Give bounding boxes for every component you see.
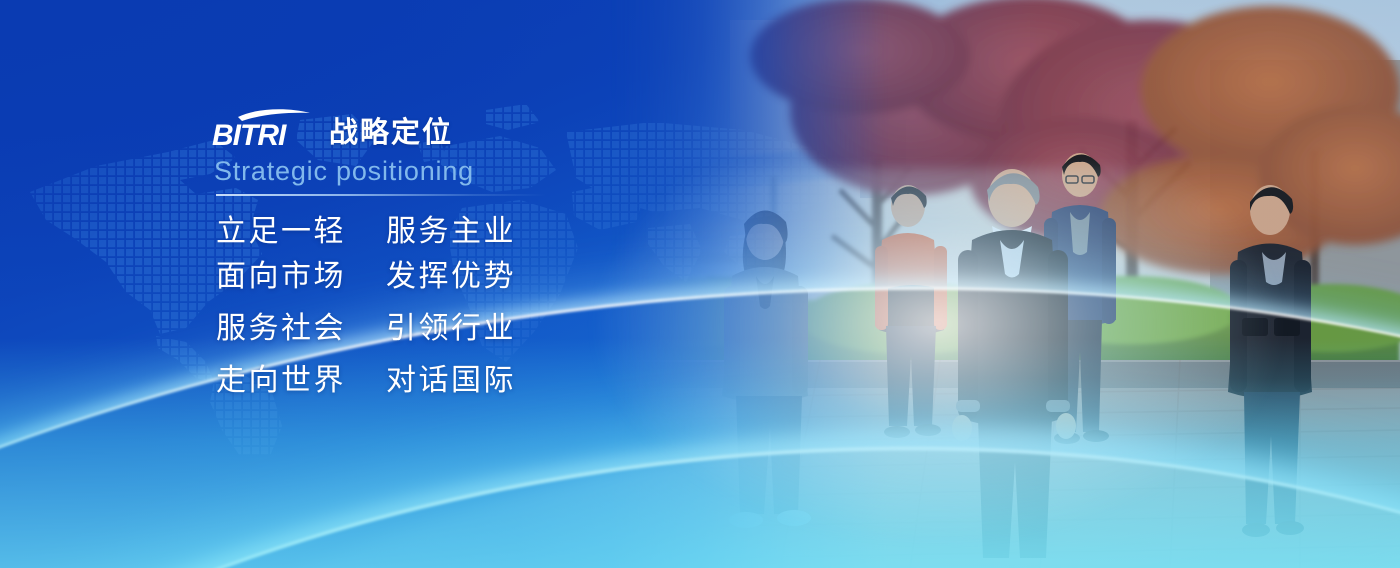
slogan-left: 走向世界 [216,366,346,396]
slogan-row: 走向世界 对话国际 [216,366,732,396]
slogan-left: 面向市场 [216,262,346,292]
brand-title-cn: 战略定位 [329,119,453,148]
slogan-left: 服务社会 [216,314,346,344]
slogan-right: 对话国际 [386,366,516,396]
slogan-row: 立足一轻 服务主业 [216,217,732,247]
title-divider [216,194,546,196]
strategic-positioning-banner: BITRI 战略定位 Strategic positioning 立足一轻 服务… [0,0,1400,568]
bitri-wordmark-text: BITRI [212,119,287,150]
bitri-logo: BITRI [212,106,316,150]
slogan-row: 服务社会 引领行业 [216,314,732,344]
brand-lockup: BITRI 战略定位 [212,106,732,150]
slogan-right: 服务主业 [386,217,516,247]
slogan-left: 立足一轻 [216,217,346,247]
slogan-row: 面向市场 发挥优势 [216,262,732,292]
slogan-right: 发挥优势 [386,262,516,292]
banner-text-block: BITRI 战略定位 Strategic positioning 立足一轻 服务… [212,106,732,396]
slogan-list: 立足一轻 服务主业 面向市场 发挥优势 服务社会 引领行业 走向世界 对话国际 [216,217,732,396]
slogan-right: 引领行业 [386,314,516,344]
brand-subtitle-en: Strategic positioning [214,156,732,187]
